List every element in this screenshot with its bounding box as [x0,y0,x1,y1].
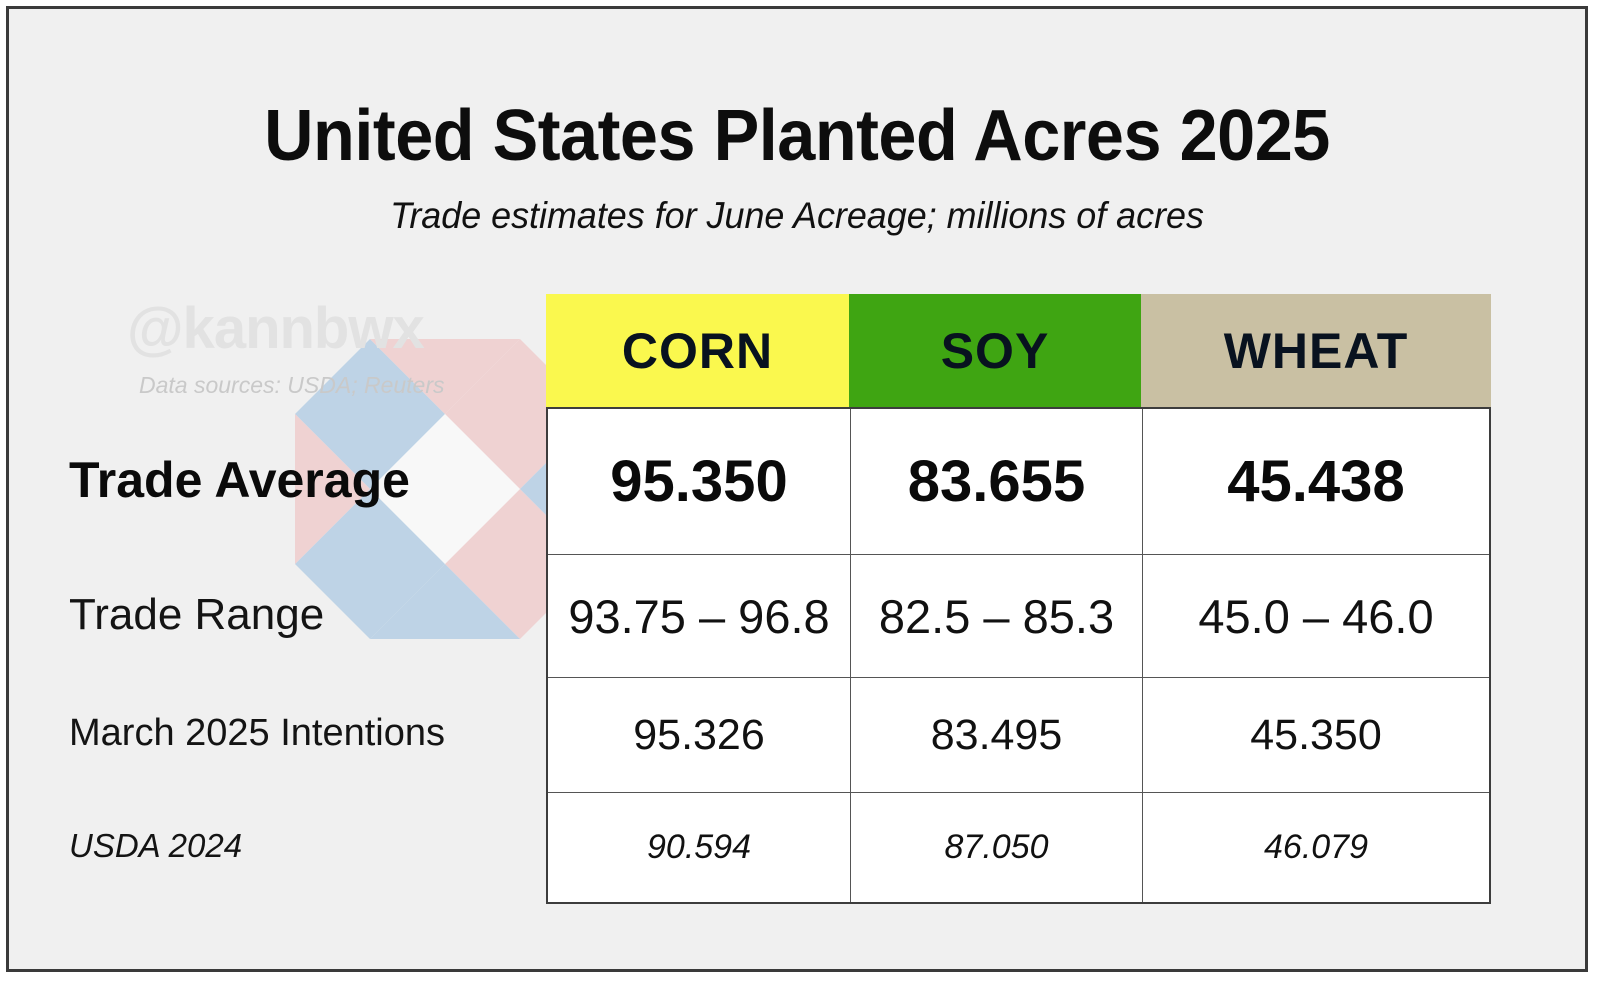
table-row: 93.75 – 96.8 82.5 – 85.3 45.0 – 46.0 [548,555,1489,678]
acreage-table: CORN SOY WHEAT 95.350 83.655 45.438 93.7… [546,294,1491,904]
cell-march-intentions-corn: 95.326 [548,678,851,792]
page-subtitle: Trade estimates for June Acreage; millio… [33,195,1562,237]
column-header-corn: CORN [546,294,849,407]
cell-trade-range-wheat: 45.0 – 46.0 [1143,555,1489,677]
table-row: 95.350 83.655 45.438 [548,409,1489,555]
value-text: 83.495 [931,711,1063,760]
page-title: United States Planted Acres 2025 [48,95,1545,177]
value-text: 82.5 – 85.3 [879,589,1114,644]
cell-usda-2024-wheat: 46.079 [1143,793,1489,902]
row-label-column: Trade Average Trade Range March 2025 Int… [69,407,539,900]
value-text: 83.655 [908,448,1085,515]
value-text: 45.350 [1250,711,1382,760]
cell-trade-average-soy: 83.655 [851,409,1143,554]
column-header-soy: SOY [849,294,1141,407]
infographic-frame: HCT KẾT NỐI GIÁ TRỊ - CHIA SẺ THÀNH CÔNG… [6,6,1588,972]
value-text: 95.350 [610,448,787,515]
value-text: 46.079 [1264,828,1368,867]
value-text: 90.594 [647,828,751,867]
table-row: 90.594 87.050 46.079 [548,793,1489,902]
cell-march-intentions-wheat: 45.350 [1143,678,1489,792]
table-body: 95.350 83.655 45.438 93.75 – 96.8 82.5 –… [546,407,1491,904]
column-header-wheat: WHEAT [1141,294,1491,407]
cell-trade-average-wheat: 45.438 [1143,409,1489,554]
row-label-usda-2024: USDA 2024 [69,791,539,900]
value-text: 93.75 – 96.8 [568,589,829,644]
value-text: 45.438 [1227,448,1404,515]
table-row: 95.326 83.495 45.350 [548,678,1489,793]
row-label-march-intentions: March 2025 Intentions [69,676,539,791]
content-layer: United States Planted Acres 2025 Trade e… [9,9,1585,969]
cell-trade-average-corn: 95.350 [548,409,851,554]
cell-usda-2024-corn: 90.594 [548,793,851,902]
table-header-row: CORN SOY WHEAT [546,294,1491,407]
cell-trade-range-soy: 82.5 – 85.3 [851,555,1143,677]
row-label-trade-range: Trade Range [69,553,539,676]
row-label-trade-average: Trade Average [69,407,539,553]
value-text: 95.326 [633,711,765,760]
cell-usda-2024-soy: 87.050 [851,793,1143,902]
cell-trade-range-corn: 93.75 – 96.8 [548,555,851,677]
value-text: 87.050 [945,828,1049,867]
value-text: 45.0 – 46.0 [1198,589,1433,644]
cell-march-intentions-soy: 83.495 [851,678,1143,792]
